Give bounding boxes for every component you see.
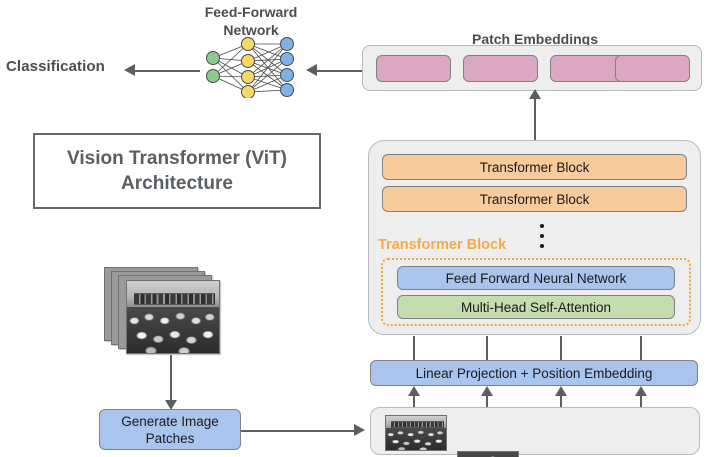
patch-embeddings-container xyxy=(362,45,702,91)
connector-lp-to-transformer-1 xyxy=(413,336,415,360)
feed-forward-neural-network-block[interactable]: Feed Forward Neural Network xyxy=(397,266,675,290)
transformer-block-expanded-label: Transformer Block xyxy=(378,237,506,253)
arrow-patch-to-lp-head-2 xyxy=(481,386,493,396)
arrow-patch-to-lp-line-4 xyxy=(640,394,642,408)
vit-architecture-diagram: Classification Feed-Forward Network xyxy=(0,0,708,457)
arrow-image-to-generate-line xyxy=(170,355,172,403)
arrow-patch-to-lp-head-1 xyxy=(408,386,420,396)
transformer-block-2-label: Transformer Block xyxy=(480,192,590,207)
arrow-patch-to-lp-head-3 xyxy=(555,386,567,396)
arrow-transformer-to-patches-head xyxy=(529,89,541,99)
arrow-generate-to-patches-line xyxy=(241,430,354,432)
page-title-line1: Vision Transformer (ViT) xyxy=(67,146,287,171)
arrow-patch-to-lp-head-4 xyxy=(635,386,647,396)
linear-projection-position-embedding-block[interactable]: Linear Projection + Position Embedding xyxy=(370,360,698,386)
ffn-title-line1: Feed-Forward xyxy=(186,3,316,21)
image-patch-2[interactable] xyxy=(457,451,519,457)
transformer-block-1-label: Transformer Block xyxy=(480,160,590,175)
image-patch-1[interactable] xyxy=(385,415,447,451)
generate-image-patches-line2: Patches xyxy=(146,430,195,447)
multi-head-self-attention-block[interactable]: Multi-Head Self-Attention xyxy=(397,295,675,319)
connector-lp-to-transformer-2 xyxy=(486,336,488,360)
feed-forward-network-title: Feed-Forward Network xyxy=(186,3,316,39)
generate-image-patches-line1: Generate Image xyxy=(121,413,219,430)
page-title-line2: Architecture xyxy=(67,171,287,196)
transformer-block-detail-outline: Feed Forward Neural Network Multi-Head S… xyxy=(381,258,691,326)
generate-image-patches-block[interactable]: Generate Image Patches xyxy=(99,409,241,450)
arrow-nn-to-classification-head xyxy=(124,64,135,76)
multi-head-self-attention-label: Multi-Head Self-Attention xyxy=(461,300,611,315)
vertical-ellipsis-icon xyxy=(538,224,546,248)
patch-embedding-token[interactable] xyxy=(463,55,538,82)
patch-embedding-token[interactable] xyxy=(376,55,451,82)
feed-forward-network-graphic xyxy=(203,36,299,98)
arrow-patch-to-lp-line-2 xyxy=(486,394,488,408)
patch-embedding-token[interactable] xyxy=(615,55,690,82)
arrow-patch-to-lp-line-1 xyxy=(413,394,415,408)
image-patches-container xyxy=(370,407,700,455)
transformer-block-1[interactable]: Transformer Block xyxy=(382,154,687,180)
source-image-stack xyxy=(104,267,222,355)
feed-forward-neural-network-label: Feed Forward Neural Network xyxy=(446,271,627,286)
transformer-block-2[interactable]: Transformer Block xyxy=(382,186,687,212)
patch-embedding-token[interactable] xyxy=(550,55,625,82)
arrow-patches-to-nn-head xyxy=(306,64,317,76)
linear-projection-label: Linear Projection + Position Embedding xyxy=(416,366,653,381)
page-title-box: Vision Transformer (ViT) Architecture xyxy=(33,133,321,209)
arrow-patch-to-lp-line-3 xyxy=(560,394,562,408)
source-image-front[interactable] xyxy=(126,280,220,354)
arrow-transformer-to-patches-line xyxy=(534,96,536,142)
connector-lp-to-transformer-3 xyxy=(560,336,562,360)
classification-label: Classification xyxy=(6,58,105,75)
arrow-nn-to-classification-line xyxy=(135,70,200,72)
connector-lp-to-transformer-4 xyxy=(640,336,642,360)
arrow-generate-to-patches-head xyxy=(354,424,365,436)
